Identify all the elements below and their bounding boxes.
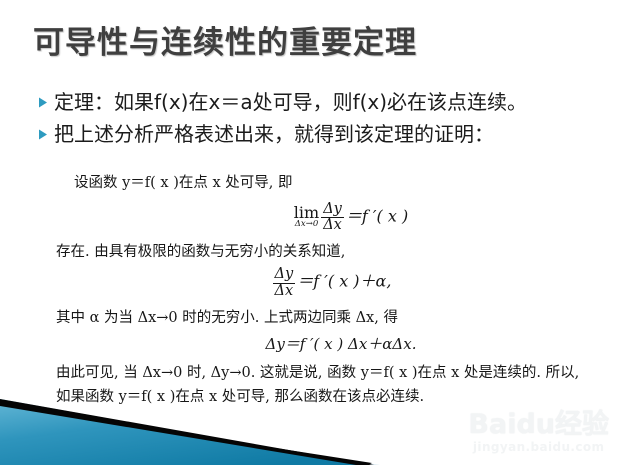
- fraction-denominator: Δx: [273, 283, 296, 299]
- list-item: 定理：如果f(x)在x＝a处可导，则f(x)必在该点连续。: [38, 88, 608, 117]
- proof-line-1: 设函数 y＝f( x )在点 x 处可导, 即: [56, 176, 586, 191]
- equation-fraction: ΔyΔx＝f ′( x )＋α,: [56, 267, 586, 298]
- fraction-dy-dx: ΔyΔx: [321, 202, 344, 233]
- proof-line-2: 存在. 由具有极限的函数与无穷小的关系知道,: [56, 245, 586, 260]
- proof-line-3: 其中 α 为当 Δx→0 时的无穷小. 上式两边同乘 Δx, 得: [56, 311, 586, 326]
- watermark-url-text: jingyan.baidu.com: [468, 441, 609, 453]
- proof-block: 设函数 y＝f( x )在点 x 处可导, 即 lim Δx→0 ΔyΔx＝f …: [56, 176, 586, 404]
- bullet-list: 定理：如果f(x)在x＝a处可导，则f(x)必在该点连续。 把上述分析严格表述出…: [38, 88, 608, 152]
- fraction-dy-dx: ΔyΔx: [273, 267, 296, 298]
- triangle-bullet-icon: [38, 120, 54, 140]
- list-item: 把上述分析严格表述出来，就得到该定理的证明：: [38, 120, 608, 149]
- equation-rhs: ＝f ′( x ): [346, 206, 408, 225]
- proof-line-5: 如果函数 y＝f( x )在点 x 处可导, 那么函数在该点必连续.: [56, 390, 586, 405]
- equation-delta-y: Δy＝f ′( x ) Δx＋αΔx.: [56, 333, 586, 354]
- triangle-bullet-icon: [38, 88, 54, 108]
- limit-operator: lim Δx→0: [294, 205, 319, 229]
- fraction-numerator: Δy: [321, 202, 344, 217]
- fraction-numerator: Δy: [273, 267, 296, 282]
- equation-limit: lim Δx→0 ΔyΔx＝f ′( x ): [56, 202, 586, 233]
- limit-subscript: Δx→0: [294, 220, 319, 229]
- baidu-watermark: Baidu经验 jingyan.baidu.com: [468, 411, 609, 453]
- proof-line-4: 由此可见, 当 Δx→0 时, Δy→0. 这就是说, 函数 y＝f( x )在…: [56, 366, 586, 381]
- equation-rhs: ＝f ′( x )＋α,: [297, 272, 391, 291]
- list-item-label: 把上述分析严格表述出来，就得到该定理的证明：: [54, 120, 608, 149]
- page-title: 可导性与连续性的重要定理: [33, 26, 417, 60]
- fraction-denominator: Δx: [321, 217, 344, 233]
- watermark-logo-text: Baidu经验: [468, 411, 609, 438]
- list-item-label: 定理：如果f(x)在x＝a处可导，则f(x)必在该点连续。: [54, 88, 608, 117]
- slide-canvas: 可导性与连续性的重要定理 定理：如果f(x)在x＝a处可导，则f(x)必在该点连…: [0, 0, 621, 465]
